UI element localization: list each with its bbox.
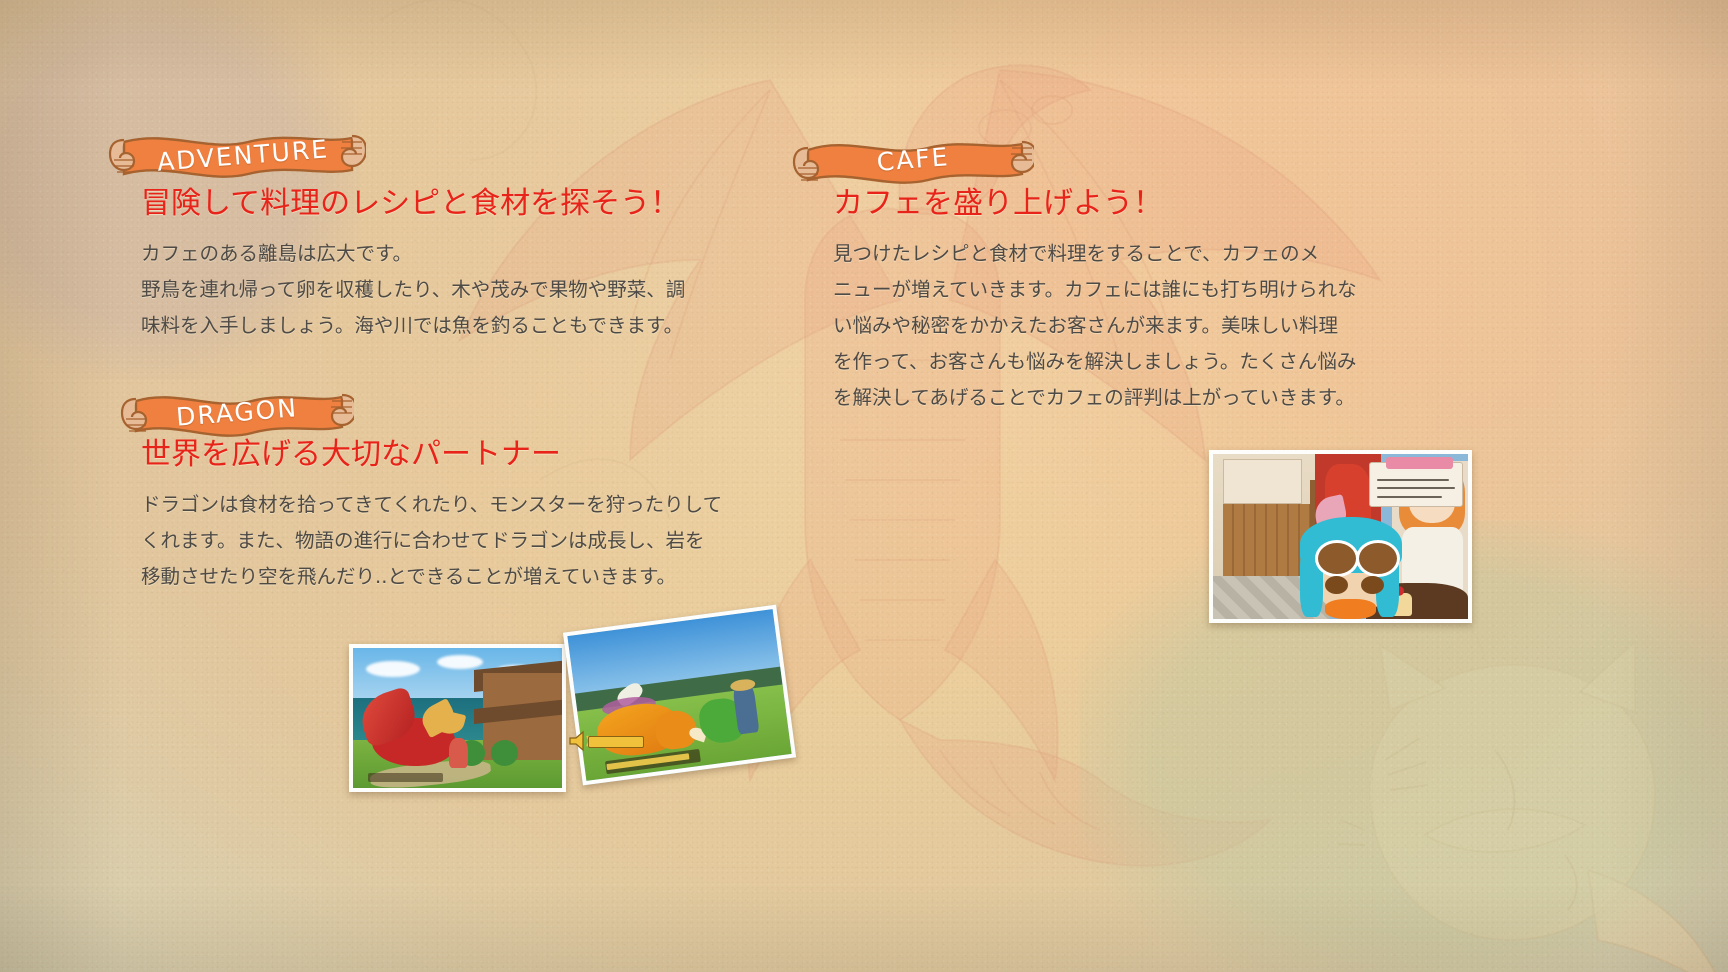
banner-dragon: DRAGON [120, 383, 354, 441]
screenshot-monster-hunt[interactable] [563, 605, 796, 786]
feature-page: ADVENTURE 冒険して料理のレシピと食材を探そう！ カフェのある離島は広大… [0, 0, 1728, 972]
adventure-line-2: 野鳥を連れ帰って卵を収穫したり、木や茂みで果物や野菜、調 [141, 272, 685, 308]
dialogue-box [1369, 462, 1463, 507]
dragon-line-1: ドラゴンは食材を拾ってきてくれたり、モンスターを狩ったりして [141, 487, 722, 523]
section-cafe: カフェを盛り上げよう！ 見つけたレシピと食材で料理をすることで、カフェのメ ニュ… [833, 186, 1357, 416]
cafe-line-5: を解決してあげることでカフェの評判は上がっていきます。 [833, 380, 1357, 416]
cafe-heading: カフェを盛り上げよう！ [833, 186, 1357, 222]
screenshot-cafe-scene[interactable] [1209, 450, 1472, 623]
dragon-line-2: くれます。また、物語の進行に合わせてドラゴンは成長し、岩を [141, 523, 722, 559]
dragon-heading: 世界を広げる大切なパートナー [141, 437, 722, 473]
screenshot-monster-hunt-content [567, 609, 791, 781]
dragon-line-3: 移動させたり空を飛んだり..とできることが増えていきます。 [141, 559, 722, 595]
cafe-paragraph: 見つけたレシピと食材で料理をすることで、カフェのメ ニューが増えていきます。カフ… [833, 236, 1357, 416]
cafe-line-1: 見つけたレシピと食材で料理をすることで、カフェのメ [833, 236, 1357, 272]
dragon-paragraph: ドラゴンは食材を拾ってきてくれたり、モンスターを狩ったりして くれます。また、物… [141, 487, 722, 595]
adventure-paragraph: カフェのある離島は広大です。 野鳥を連れ帰って卵を収穫したり、木や茂みで果物や野… [141, 236, 685, 344]
screenshot-cafe-scene-content [1213, 454, 1468, 619]
section-dragon: 世界を広げる大切なパートナー ドラゴンは食材を拾ってきてくれたり、モンスターを狩… [141, 437, 722, 595]
adventure-line-3: 味料を入手しましょう。海や川では魚を釣ることもできます。 [141, 308, 685, 344]
cat-sketch-watermark [1330, 640, 1728, 972]
cafe-line-4: を作って、お客さんも悩みを解決しましょう。たくさん悩み [833, 344, 1357, 380]
dialogue-bar [588, 736, 644, 748]
cafe-line-3: い悩みや秘密をかかえたお客さんが来ます。美味しい料理 [833, 308, 1357, 344]
screenshot-seaside-dragon[interactable] [349, 644, 566, 792]
dialogue-speaker-name [1386, 457, 1452, 469]
screenshot-seaside-dragon-content [353, 648, 562, 788]
adventure-line-1: カフェのある離島は広大です。 [141, 236, 685, 272]
banner-adventure: ADVENTURE [108, 126, 366, 184]
adventure-heading: 冒険して料理のレシピと食材を探そう！ [141, 186, 685, 222]
section-adventure: 冒険して料理のレシピと食材を探そう！ カフェのある離島は広大です。 野鳥を連れ帰… [141, 186, 685, 344]
banner-cafe: CAFE [792, 130, 1034, 188]
cafe-line-2: ニューが増えていきます。カフェには誰にも打ち明けられな [833, 272, 1357, 308]
